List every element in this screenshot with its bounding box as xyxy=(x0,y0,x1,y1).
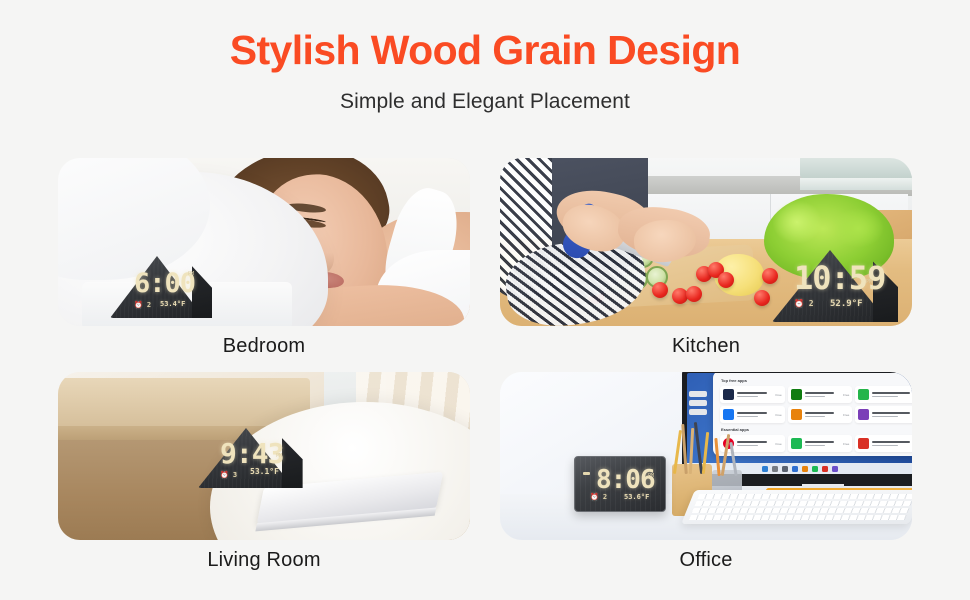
app-price-label: Free xyxy=(843,393,849,397)
kitchen-shelf-lower xyxy=(800,178,912,190)
clock-time-display: 10:59 xyxy=(794,262,885,294)
caption-living-room: Living Room xyxy=(58,549,470,572)
store-sidebar-item[interactable] xyxy=(689,400,707,406)
app-tile-text xyxy=(872,412,912,417)
app-tile-text xyxy=(805,392,841,397)
store-sidebar xyxy=(689,391,707,418)
store-tile-grid-essential: Free Free xyxy=(720,435,912,452)
clock-ampm-indicator: PM xyxy=(866,280,872,285)
store-app-tile[interactable]: Free xyxy=(720,406,785,423)
taskbar-app-icon[interactable] xyxy=(802,466,808,472)
cherry-tomato xyxy=(718,272,734,288)
clock-temperature-display: 52.9°F xyxy=(830,300,863,309)
clock-status-dot xyxy=(583,472,590,475)
store-app-tile[interactable] xyxy=(855,435,912,452)
app-icon-photoshop xyxy=(723,389,734,400)
microsoft-store-window: Top free apps Free Fre xyxy=(713,373,912,456)
app-price-label: Free xyxy=(843,413,849,417)
taskbar-widgets-icon[interactable] xyxy=(782,466,788,472)
taskbar-start-icon[interactable] xyxy=(762,466,768,472)
app-price-label: Free xyxy=(843,442,849,446)
panel-office: Top free apps Free Fre xyxy=(500,372,912,572)
app-price-label: Free xyxy=(775,442,781,446)
clock-alarm-indicator: ⏰ 2 xyxy=(134,302,151,309)
store-app-tile[interactable]: Free xyxy=(788,406,853,423)
cherry-tomato xyxy=(652,282,668,298)
app-icon-facebook xyxy=(723,409,734,420)
app-price-label: Free xyxy=(775,393,781,397)
cherry-tomato xyxy=(754,290,770,306)
cherry-tomato xyxy=(686,286,702,302)
alarm-clock-bedroom: 6:00 PM ⏰ 2 53.4°F xyxy=(110,256,204,318)
caption-bedroom: Bedroom xyxy=(58,335,470,358)
clock-temperature-display: 53.4°F xyxy=(160,301,185,308)
scene-photo-living-room: 9:43 PM ⏰ 3 53.1°F xyxy=(58,372,470,540)
app-tile-text xyxy=(737,441,772,446)
store-section-title-top-free: Top free apps xyxy=(721,378,912,383)
store-app-tile[interactable]: Free xyxy=(788,435,853,452)
page-title: Stylish Wood Grain Design xyxy=(0,28,970,72)
panel-bedroom: 6:00 PM ⏰ 2 53.4°F Bedroom xyxy=(58,158,470,358)
caption-office: Office xyxy=(500,549,912,572)
alarm-clock-kitchen: 10:59 PM ⏰ 2 52.9°F xyxy=(772,250,888,322)
scene-photo-kitchen: 10:59 PM ⏰ 2 52.9°F xyxy=(500,158,912,326)
taskbar-app-icon[interactable] xyxy=(822,466,828,472)
office-keyboard[interactable] xyxy=(681,490,912,524)
app-icon-generic xyxy=(858,409,869,420)
app-icon-generic xyxy=(858,389,869,400)
store-sidebar-item[interactable] xyxy=(689,409,707,415)
clock-alarm-indicator: ⏰ 3 xyxy=(220,472,237,479)
clock-temperature-display: 53.6°F xyxy=(624,494,649,501)
taskbar-app-icon[interactable] xyxy=(832,466,838,472)
app-icon-generic xyxy=(858,438,869,449)
monitor-screen: Top free apps Free Fre xyxy=(687,373,912,474)
app-tile-text xyxy=(872,441,912,446)
app-tile-text xyxy=(872,392,912,397)
store-app-tile[interactable] xyxy=(855,406,912,423)
app-tile-text xyxy=(737,392,772,397)
clock-temperature-display: 53.1°F xyxy=(250,468,279,476)
scene-grid: 6:00 PM ⏰ 2 53.4°F Bedroom xyxy=(58,158,912,572)
store-section-title-essential: Essential apps xyxy=(721,427,912,432)
alarm-clock-office: 8:06 PM ⏰ 2 53.6°F xyxy=(574,456,666,512)
store-app-tile[interactable]: Free xyxy=(788,386,853,403)
taskbar-explorer-icon[interactable] xyxy=(792,466,798,472)
store-sidebar-item[interactable] xyxy=(689,391,707,397)
store-app-tile[interactable]: Free xyxy=(720,386,785,403)
app-tile-text xyxy=(805,441,841,446)
app-icon-spotify xyxy=(791,438,802,449)
alarm-clock-living-room: 9:43 PM ⏰ 3 53.1°F xyxy=(198,428,294,488)
panel-living-room: 9:43 PM ⏰ 3 53.1°F Living Room xyxy=(58,372,470,572)
clock-ampm-indicator: PM xyxy=(648,474,654,479)
header: Stylish Wood Grain Design Simple and Ele… xyxy=(0,0,970,114)
scene-photo-office: Top free apps Free Fre xyxy=(500,372,912,540)
app-tile-text xyxy=(805,412,841,417)
clock-time-display: 9:43 xyxy=(220,440,283,468)
scene-photo-bedroom: 6:00 PM ⏰ 2 53.4°F xyxy=(58,158,470,326)
app-price-label: Free xyxy=(775,413,781,417)
store-tile-grid-top: Free Free xyxy=(720,386,912,423)
app-tile-text xyxy=(737,412,772,417)
caption-kitchen: Kitchen xyxy=(500,335,912,358)
taskbar-app-icon[interactable] xyxy=(812,466,818,472)
product-marketing-page: Stylish Wood Grain Design Simple and Ele… xyxy=(0,0,970,600)
store-app-tile[interactable] xyxy=(855,386,912,403)
clock-alarm-indicator: ⏰ 2 xyxy=(590,494,607,501)
clock-time-display: 6:00 xyxy=(134,270,195,297)
taskbar-search-icon[interactable] xyxy=(772,466,778,472)
clock-time-display: 8:06 xyxy=(596,467,655,493)
clock-alarm-indicator: ⏰ 2 xyxy=(794,300,814,308)
kitchen-shelf xyxy=(800,158,912,178)
app-icon-vlc xyxy=(791,409,802,420)
page-subtitle: Simple and Elegant Placement xyxy=(0,90,970,114)
panel-kitchen: 10:59 PM ⏰ 2 52.9°F Kitchen xyxy=(500,158,912,358)
clock-ampm-indicator: PM xyxy=(188,272,194,277)
app-icon-xbox xyxy=(791,389,802,400)
clock-ampm-indicator: PM xyxy=(276,454,282,459)
